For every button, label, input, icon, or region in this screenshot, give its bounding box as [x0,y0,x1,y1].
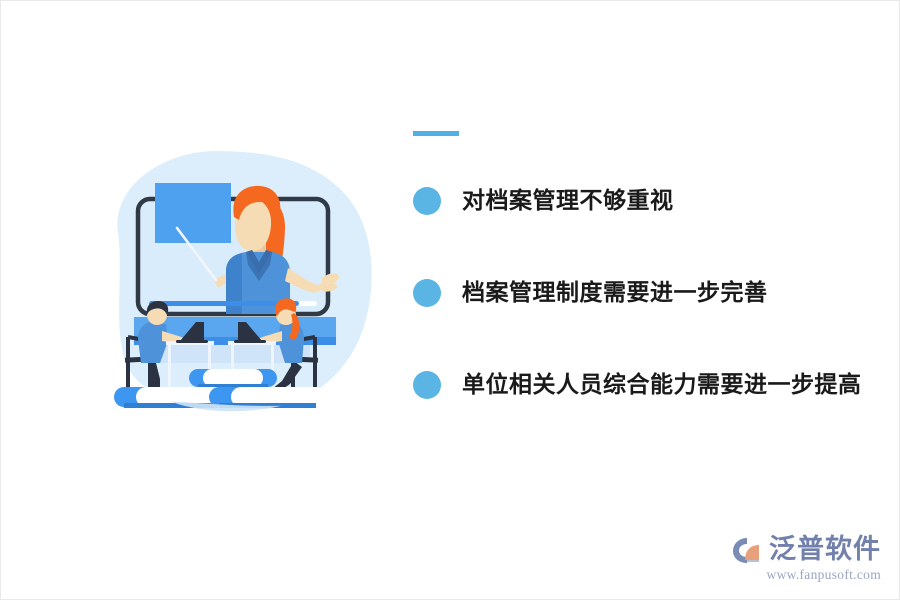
list-item: 对档案管理不够重视 [413,166,883,236]
list-item: 档案管理制度需要进一步完善 [413,258,883,328]
online-classroom-illustration [56,141,386,421]
bullet-text-3: 单位相关人员综合能力需要进一步提高 [462,371,862,399]
content-column: 对档案管理不够重视 档案管理制度需要进一步完善 单位相关人员综合能力需要进一步提… [413,131,883,420]
logo-top-row: 泛普软件 [731,534,881,564]
bullet-text-2: 档案管理制度需要进一步完善 [462,279,768,307]
book-stack-upper [189,369,277,388]
accent-rule [413,131,459,136]
logo-website-url: www.fanpusoft.com [767,567,881,583]
bullet-list: 对档案管理不够重视 档案管理制度需要进一步完善 单位相关人员综合能力需要进一步提… [413,166,883,420]
bullet-dot-icon [413,187,441,215]
bullet-text-1: 对档案管理不够重视 [462,187,674,215]
fanpu-logo-mark-icon [731,534,765,564]
logo-company-name: 泛普软件 [769,536,881,563]
brand-logo: 泛普软件 www.fanpusoft.com [731,534,881,583]
list-item: 单位相关人员综合能力需要进一步提高 [413,350,883,420]
whiteboard-graphic [155,183,231,243]
slide-canvas: 对档案管理不够重视 档案管理制度需要进一步完善 单位相关人员综合能力需要进一步提… [0,0,900,600]
bullet-dot-icon [413,279,441,307]
bullet-dot-icon [413,371,441,399]
